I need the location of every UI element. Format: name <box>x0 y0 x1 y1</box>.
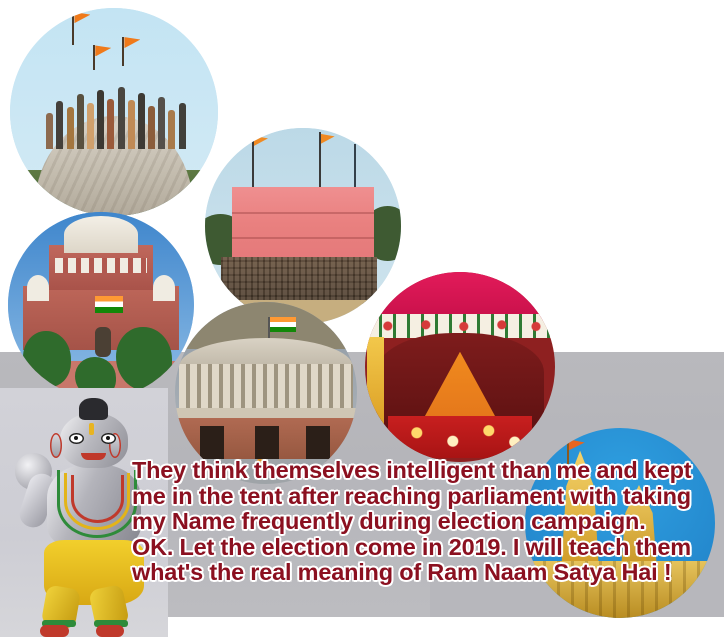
ear-left <box>50 433 62 458</box>
pupil-left <box>74 436 78 440</box>
pupil-right <box>106 436 110 440</box>
flower-offerings <box>388 416 532 458</box>
foot-right <box>96 625 125 637</box>
tilak-mark <box>89 423 94 435</box>
court-statue <box>95 327 111 357</box>
tree-foliage <box>116 327 172 390</box>
entrance-door <box>306 426 330 459</box>
side-banner <box>367 337 384 440</box>
photo-babri-demolition <box>10 8 218 216</box>
meme-collage-canvas: They think themselves intelligent than m… <box>0 0 724 637</box>
flag-pole <box>93 45 95 70</box>
flag-pole <box>252 136 254 187</box>
meme-caption-text: They think themselves intelligent than m… <box>132 458 722 586</box>
flag-pole <box>319 132 321 187</box>
entrance-door <box>200 426 224 459</box>
foot-left <box>40 625 69 637</box>
crowd-of-people <box>43 79 189 150</box>
indian-tricolour-flag-icon <box>95 296 123 313</box>
parliament-colonnade <box>179 364 354 411</box>
entrance-door <box>255 426 279 459</box>
idol-crown <box>79 398 108 420</box>
photo-ram-lalla-shrine <box>365 272 555 462</box>
corner-turret <box>27 275 49 301</box>
indian-tricolour-flag-icon <box>270 317 296 332</box>
saffron-flag-icon <box>569 439 585 450</box>
brick-platform <box>221 257 378 304</box>
red-garland <box>71 475 124 523</box>
tree-foliage <box>23 331 71 387</box>
corner-turret <box>153 275 175 301</box>
idol-mouth <box>81 453 106 460</box>
pink-tarpaulin-cover <box>232 187 373 261</box>
flag-pole <box>122 37 124 66</box>
photo-supreme-court-of-india <box>8 212 194 398</box>
flag-pole <box>72 12 74 45</box>
flag-pole <box>354 144 356 191</box>
court-dome <box>64 216 138 253</box>
